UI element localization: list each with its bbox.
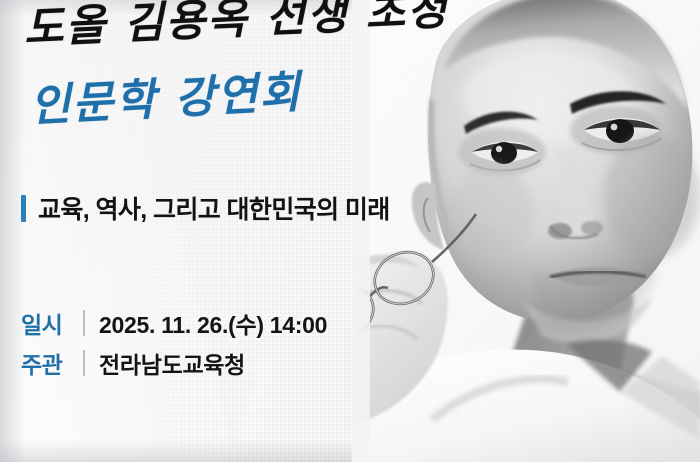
background-vignette-left — [0, 0, 26, 462]
info-value-datetime: 2025. 11. 26.(수) 14:00 — [99, 306, 327, 340]
portrait-photo — [352, 0, 700, 462]
subtitle-accent-bar — [21, 195, 26, 222]
lecture-poster: 도올 김용옥 선생 초청 인문학 강연회 교육, 역사, 그리고 대한민국의 미… — [0, 0, 700, 462]
subtitle: 교육, 역사, 그리고 대한민국의 미래 — [21, 190, 390, 226]
info-label-organizer: 주관 — [21, 346, 77, 380]
subtitle-text: 교육, 역사, 그리고 대한민국의 미래 — [38, 190, 390, 226]
info-row-organizer: 주관 전라남도교육청 — [21, 343, 327, 383]
info-value-organizer: 전라남도교육청 — [99, 346, 245, 380]
info-row-datetime: 일시 2025. 11. 26.(수) 14:00 — [21, 303, 327, 343]
info-separator — [83, 350, 85, 376]
event-info: 일시 2025. 11. 26.(수) 14:00 주관 전라남도교육청 — [21, 303, 327, 383]
info-separator — [83, 310, 85, 336]
info-label-datetime: 일시 — [21, 306, 77, 340]
